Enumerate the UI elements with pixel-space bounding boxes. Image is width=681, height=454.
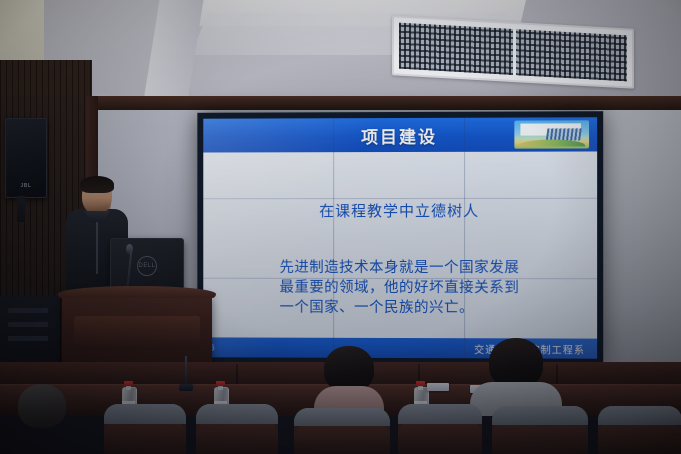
- podium-top-surface: [58, 286, 216, 298]
- chair-wood-back: [196, 423, 278, 454]
- chair-wood-back: [294, 425, 390, 454]
- slide-title: 项目建设: [361, 122, 437, 147]
- campus-landscape-logo-icon: [514, 120, 589, 148]
- audience-head: [489, 338, 543, 388]
- jbl-speaker: JBL: [5, 118, 47, 198]
- slide-header-bar: 项目建设: [203, 117, 597, 152]
- jbl-speaker-bracket: [17, 196, 25, 222]
- presenter-jacket-zip: [96, 222, 98, 274]
- chair-wood-back: [104, 423, 186, 454]
- chair-cushion: [104, 404, 186, 424]
- logo-ground-shape: [518, 139, 585, 146]
- jbl-badge-label: JBL: [21, 183, 32, 189]
- chair-cushion: [598, 406, 681, 425]
- slide-paragraph-line: 先进制造技术本身就是一个国家发展: [279, 258, 519, 278]
- slide-paragraph-line: 最重要的领域，他的好坏直接关系到: [279, 278, 519, 298]
- presentation-slide: 项目建设 在课程教学中立德树人 先进制造技术本身就是一个国家发展 最重要的领域，…: [203, 117, 597, 358]
- chair-cushion: [398, 404, 482, 424]
- presentation-photo: JBL 项目建设 在课程教学中立德树人 先: [0, 0, 681, 454]
- chair: [598, 406, 681, 454]
- slide-body: 在课程教学中立德树人 先进制造技术本身就是一个国家发展 最重要的领域，他的好坏直…: [203, 151, 597, 338]
- screen-surface[interactable]: 项目建设 在课程教学中立德树人 先进制造技术本身就是一个国家发展 最重要的领域，…: [203, 117, 597, 358]
- audience-head: [18, 384, 66, 428]
- podium: [62, 292, 212, 370]
- led-video-wall[interactable]: 项目建设 在课程教学中立德树人 先进制造技术本身就是一个国家发展 最重要的领域，…: [197, 111, 603, 365]
- wall-trim-top: [88, 96, 681, 110]
- slide-paragraph-line: 一个国家、一个民族的兴亡。: [279, 298, 519, 319]
- presenter-hair: [80, 176, 114, 193]
- chair: [294, 408, 390, 454]
- slide-subtitle-line: 在课程教学中立德树人: [203, 200, 597, 221]
- desk-microphone-base: [179, 384, 193, 391]
- slide-paragraph: 先进制造技术本身就是一个国家发展 最重要的领域，他的好坏直接关系到 一个国家、一…: [279, 258, 519, 318]
- chair-cushion: [294, 408, 390, 426]
- audience-member: [318, 346, 380, 412]
- desk-nameplate: [427, 383, 449, 391]
- chair: [196, 404, 278, 454]
- hvac-vent-divider: [513, 28, 516, 76]
- chair-cushion: [492, 406, 588, 425]
- audience-member: [480, 338, 552, 414]
- podium-front-panel: [74, 316, 200, 350]
- chair-wood-back: [398, 423, 482, 454]
- audience-member: [14, 384, 70, 454]
- chair-wood-back: [492, 424, 588, 454]
- right-wall: [596, 104, 681, 390]
- chair-cushion: [196, 404, 278, 424]
- desk-microphone-stem: [185, 356, 187, 386]
- chair: [492, 406, 588, 454]
- chair: [398, 404, 482, 454]
- chair-wood-back: [598, 424, 681, 454]
- chair: [104, 404, 186, 454]
- dell-logo-icon: DELL: [137, 256, 157, 276]
